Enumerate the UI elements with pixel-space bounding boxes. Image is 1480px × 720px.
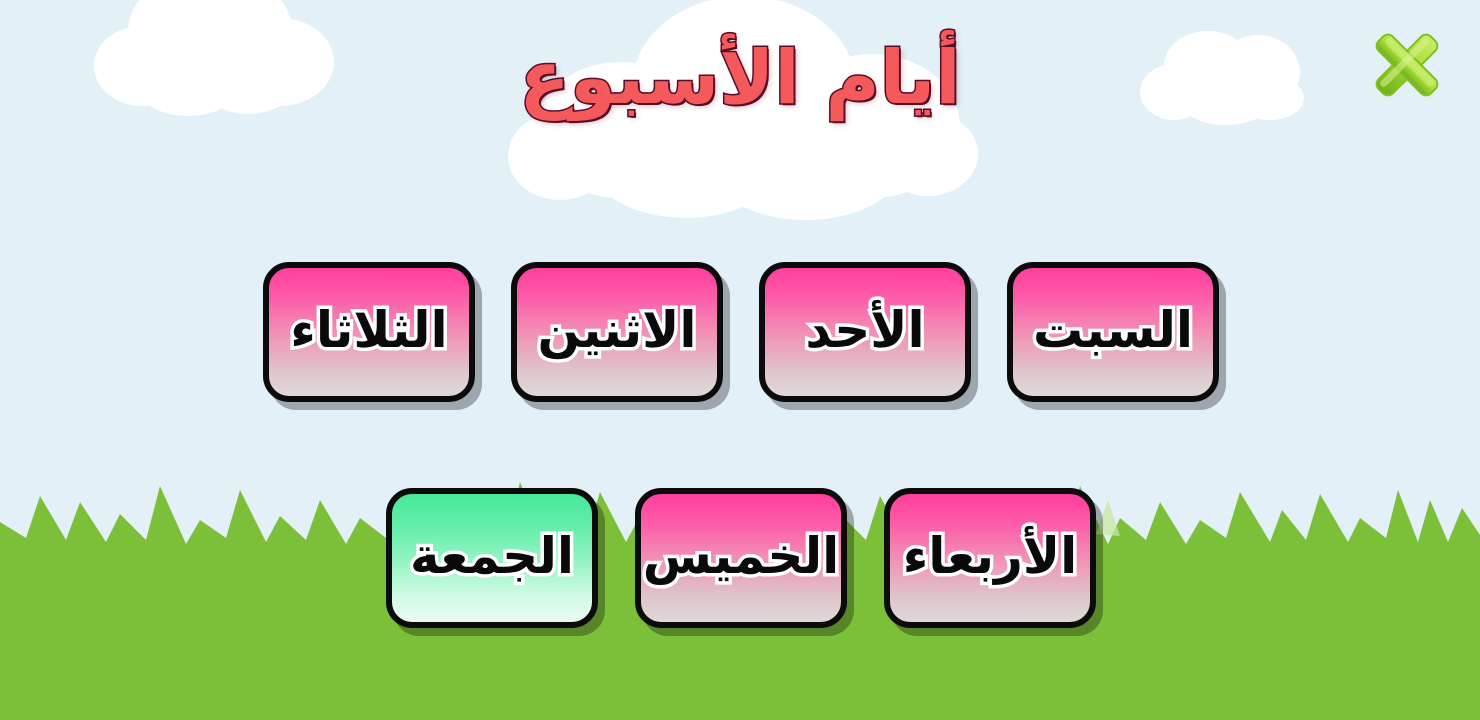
day-button-saturday[interactable]: السبت bbox=[1007, 262, 1219, 402]
day-button-friday[interactable]: الجمعة bbox=[386, 488, 598, 628]
day-button-label: الخميس bbox=[643, 531, 840, 581]
close-button[interactable] bbox=[1364, 22, 1450, 108]
close-x-icon bbox=[1364, 22, 1450, 108]
day-row-top: السبت الأحد الاثنين الثلاثاء bbox=[263, 262, 1219, 402]
day-button-label: الثلاثاء bbox=[290, 305, 447, 355]
day-button-label: الاثنين bbox=[538, 305, 697, 355]
page-title: أيام الأسبوع bbox=[500, 32, 980, 125]
app-stage: أيام الأسبوع السبت الأحد الاثنين الثلاثا… bbox=[0, 0, 1480, 720]
day-button-wednesday[interactable]: الأربعاء bbox=[884, 488, 1096, 628]
day-button-label: الأحد bbox=[805, 305, 924, 355]
cloud-title-banner: أيام الأسبوع bbox=[500, 0, 980, 226]
day-button-label: الجمعة bbox=[410, 531, 574, 581]
day-button-monday[interactable]: الاثنين bbox=[511, 262, 723, 402]
day-button-tuesday[interactable]: الثلاثاء bbox=[263, 262, 475, 402]
day-button-label: الأربعاء bbox=[903, 531, 1078, 581]
day-row-bottom: الأربعاء الخميس الجمعة bbox=[386, 488, 1096, 628]
cloud-top-right bbox=[1130, 18, 1320, 133]
day-button-thursday[interactable]: الخميس bbox=[635, 488, 847, 628]
cloud-top-left bbox=[80, 0, 340, 126]
day-button-sunday[interactable]: الأحد bbox=[759, 262, 971, 402]
day-button-label: السبت bbox=[1033, 305, 1193, 355]
